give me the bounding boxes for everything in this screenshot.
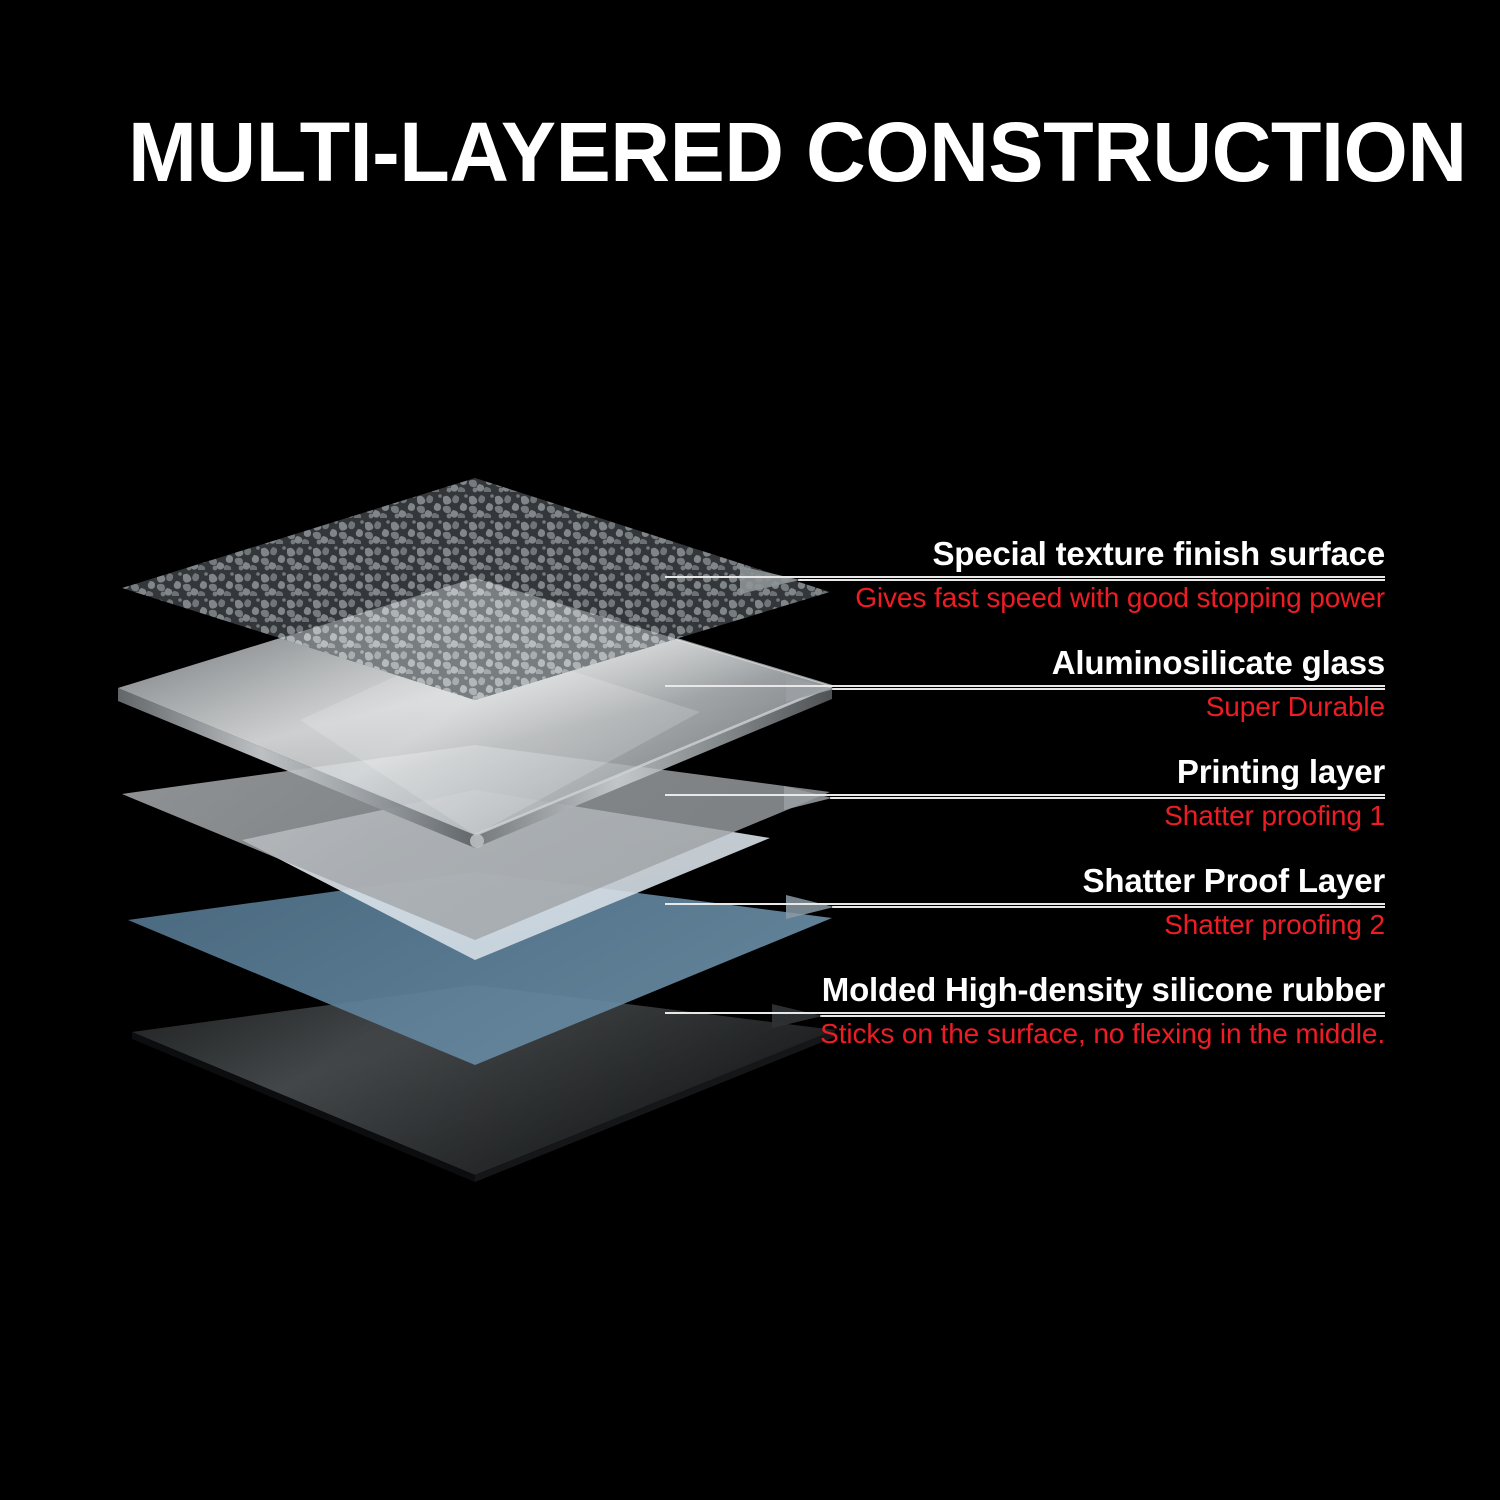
callout-subtitle: Shatter proofing 2: [665, 908, 1385, 942]
callout-rule: [665, 576, 1385, 578]
callout-special-texture-finish-surface: Special texture finish surface Gives fas…: [665, 535, 1385, 615]
exploded-layer-diagram: [0, 0, 1500, 1500]
infographic-canvas: MULTI-LAYERED CONSTRUCTION: [0, 0, 1500, 1500]
callout-molded-silicone-rubber: Molded High-density silicone rubber Stic…: [665, 971, 1385, 1051]
callout-rule: [665, 1012, 1385, 1014]
callout-aluminosilicate-glass: Aluminosilicate glass Super Durable: [665, 644, 1385, 724]
callout-subtitle: Super Durable: [665, 690, 1385, 724]
callout-subtitle: Gives fast speed with good stopping powe…: [665, 581, 1385, 615]
callout-title: Shatter Proof Layer: [665, 862, 1385, 900]
callout-subtitle: Shatter proofing 1: [665, 799, 1385, 833]
callout-title: Molded High-density silicone rubber: [665, 971, 1385, 1009]
callout-title: Aluminosilicate glass: [665, 644, 1385, 682]
callout-title: Printing layer: [665, 753, 1385, 791]
callout-title: Special texture finish surface: [665, 535, 1385, 573]
callout-rule: [665, 685, 1385, 687]
callout-rule: [665, 794, 1385, 796]
callout-shatter-proof-layer: Shatter Proof Layer Shatter proofing 2: [665, 862, 1385, 942]
callout-subtitle: Sticks on the surface, no flexing in the…: [665, 1017, 1385, 1051]
callout-printing-layer: Printing layer Shatter proofing 1: [665, 753, 1385, 833]
callout-rule: [665, 903, 1385, 905]
